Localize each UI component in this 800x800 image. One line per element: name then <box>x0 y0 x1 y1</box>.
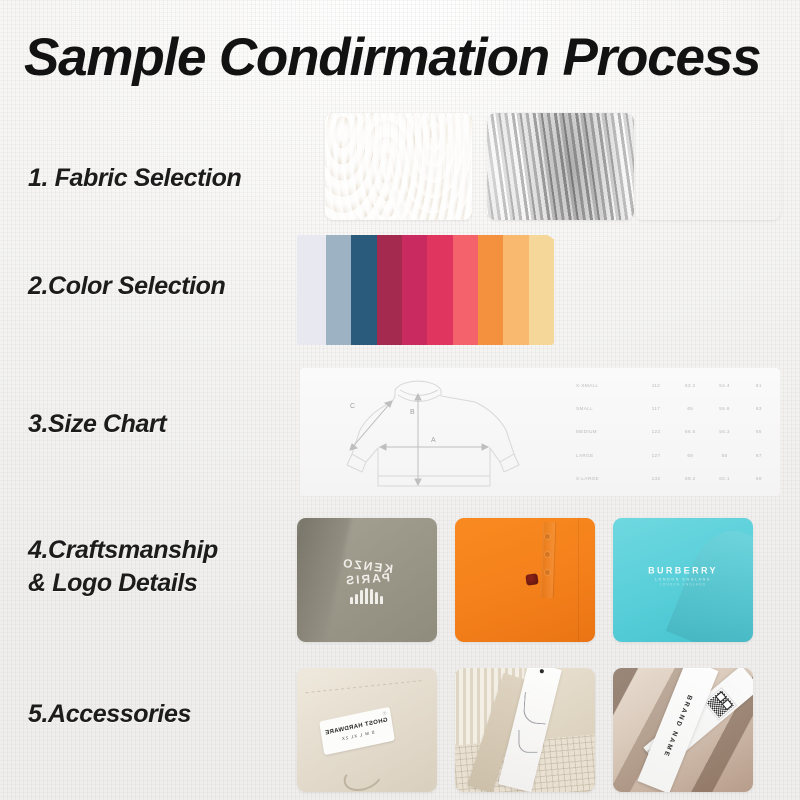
size-cell-d: 63 <box>742 406 776 411</box>
color-palette-card[interactable] <box>297 235 554 345</box>
table-row: X-SMALL11263.254.461 <box>568 376 776 396</box>
size-cell-a: 112 <box>639 383 673 388</box>
embroidered-logo <box>526 573 539 586</box>
size-cell-c: 60.1 <box>707 476 741 481</box>
fabric-swatch-wavy-grey[interactable] <box>487 113 634 220</box>
size-cell-b: 69.2 <box>673 476 707 481</box>
brand-name-text: BURBERRY <box>648 566 718 576</box>
drawcord <box>340 758 386 792</box>
size-cell-d: 61 <box>742 383 776 388</box>
size-cell-b: 65 <box>673 406 707 411</box>
fabric-swatch-boucle-beige[interactable] <box>634 113 781 220</box>
step-label-craftsmanship-line1: 4.Craftsmanship <box>28 536 218 564</box>
kenzo-brand-line2: PARIS <box>341 572 394 589</box>
craft-image-turquoise-branding[interactable]: BURBERRY LONDON ENGLAND LONDON ENGLAND <box>613 518 753 642</box>
table-row: MEDIUM12266.556.365 <box>568 422 776 442</box>
step-label-accessories: 5.Accessories <box>28 698 191 731</box>
table-row: X-LARGE13269.260.169 <box>568 468 776 488</box>
color-swatch-pale-gold[interactable] <box>529 235 554 345</box>
size-cell-name: X-LARGE <box>568 476 639 481</box>
size-cell-d: 67 <box>742 453 776 458</box>
step-label-color-selection: 2.Color Selection <box>28 270 225 303</box>
craft-image-orange-polo[interactable] <box>455 518 595 642</box>
signature-mark-2 <box>518 730 537 753</box>
size-cell-a: 117 <box>639 406 673 411</box>
size-cell-c: 54.4 <box>707 383 741 388</box>
dimension-label-c: C <box>350 403 355 410</box>
step-label-craftsmanship-line2: & Logo Details <box>28 567 218 600</box>
size-cell-b: 66.5 <box>673 429 707 434</box>
poster-canvas: Sample Condirmation Process 1. Fabric Se… <box>0 0 800 800</box>
size-cell-a: 132 <box>639 476 673 481</box>
step-label-fabric-selection: 1. Fabric Selection <box>28 162 241 195</box>
size-cell-a: 127 <box>639 453 673 458</box>
hoodie-seam <box>305 680 424 694</box>
woven-care-label: Ⓟ GHOST HARDWARE S M L XL 2X <box>319 707 395 756</box>
tag-hole <box>539 669 544 674</box>
size-cell-c: 58 <box>707 453 741 458</box>
care-symbol-icon: Ⓟ <box>382 711 387 718</box>
size-cell-c: 56.3 <box>707 429 741 434</box>
printed-brand-mark: BURBERRY LONDON ENGLAND LONDON ENGLAND <box>648 566 718 587</box>
brand-sub-text-faint: LONDON ENGLAND <box>648 583 718 587</box>
color-swatch-pale-lavender-white[interactable] <box>297 235 326 345</box>
size-cell-name: SMALL <box>568 406 639 411</box>
craft-image-kenzo-print[interactable]: KENZO PARIS <box>297 518 437 642</box>
size-cell-d: 69 <box>742 476 776 481</box>
sweatshirt-technical-drawing: A B C <box>300 368 570 496</box>
size-cell-b: 63.2 <box>673 383 707 388</box>
step-label-craftsmanship: 4.Craftsmanship & Logo Details <box>28 534 218 600</box>
accessory-image-brand-name-tags[interactable]: QR code BRAND NAME <box>613 668 753 792</box>
page-title: Sample Condirmation Process <box>24 30 784 86</box>
size-cell-b: 68 <box>673 453 707 458</box>
dimension-label-a: A <box>431 437 436 444</box>
color-swatch-slate-blue-grey[interactable] <box>326 235 351 345</box>
color-swatch-coral-red[interactable] <box>453 235 478 345</box>
polo-button-2 <box>545 552 550 557</box>
size-cell-name: X-SMALL <box>568 383 639 388</box>
table-row: LARGE127685867 <box>568 445 776 465</box>
size-measurements-table: X-SMALL11263.254.461SMALL1176555.663MEDI… <box>568 372 780 492</box>
kenzo-rays-graphic <box>341 588 393 604</box>
table-row: SMALL1176555.663 <box>568 399 776 419</box>
color-swatch-wine-crimson[interactable] <box>377 235 402 345</box>
color-swatch-tangerine-orange[interactable] <box>478 235 503 345</box>
color-swatch-light-orange[interactable] <box>503 235 528 345</box>
color-swatch-deep-teal-blue[interactable] <box>351 235 376 345</box>
size-cell-c: 55.6 <box>707 406 741 411</box>
polo-button-1 <box>545 534 550 539</box>
size-cell-name: MEDIUM <box>568 429 639 434</box>
brand-sub-text: LONDON ENGLAND <box>648 578 718 582</box>
size-cell-name: LARGE <box>568 453 639 458</box>
dimension-label-b: B <box>410 409 415 416</box>
size-cell-a: 122 <box>639 429 673 434</box>
color-swatch-raspberry-rose[interactable] <box>427 235 452 345</box>
kenzo-paris-mark: KENZO PARIS <box>341 560 393 604</box>
signature-mark-1 <box>523 692 548 725</box>
size-cell-d: 65 <box>742 429 776 434</box>
step-label-size-chart: 3.Size Chart <box>28 408 166 441</box>
accessory-image-care-label[interactable]: Ⓟ GHOST HARDWARE S M L XL 2X <box>297 668 437 792</box>
polo-button-3 <box>545 570 550 575</box>
accessory-image-hang-tags-knit[interactable] <box>455 668 595 792</box>
polo-side-seam <box>578 518 579 642</box>
size-chart-panel[interactable]: A B C X-SMALL11263.254.461SMALL1176555.6… <box>300 368 780 496</box>
fabric-swatch-chunky-knit[interactable] <box>325 113 472 220</box>
color-swatch-magenta-pink[interactable] <box>402 235 427 345</box>
